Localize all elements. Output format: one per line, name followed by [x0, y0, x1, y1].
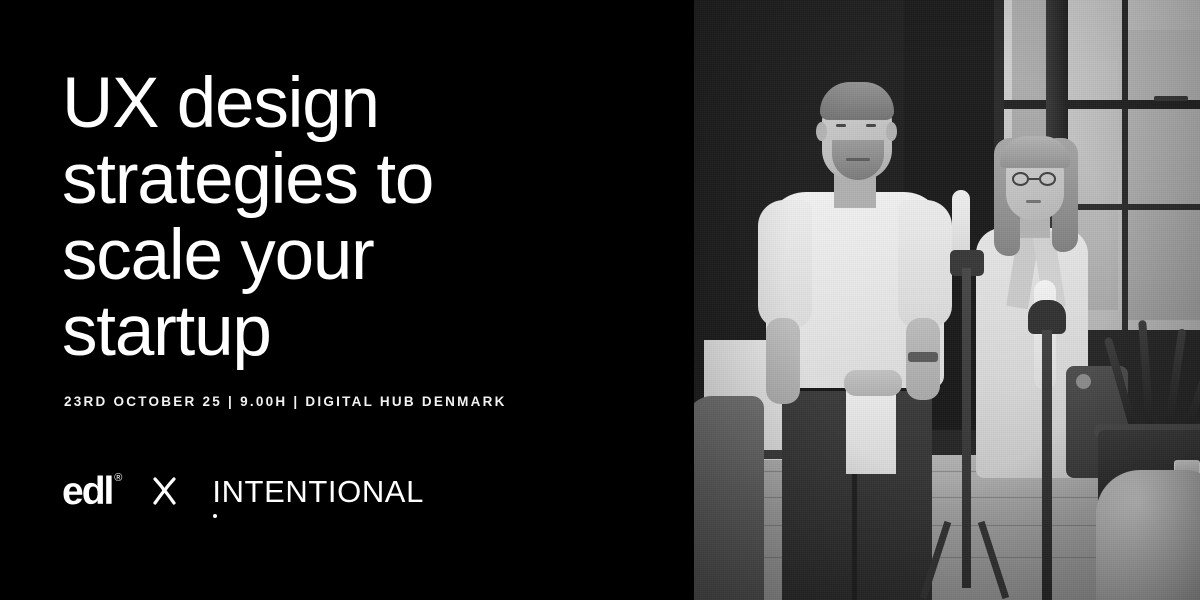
- photo-eyeglasses: [1029, 178, 1039, 180]
- event-details: 23RD OCTOBER 25 | 9.00H | DIGITAL HUB DE…: [64, 394, 507, 409]
- photo-person-man-sleeve: [758, 200, 812, 328]
- photo-person-man-hair: [820, 82, 894, 120]
- photo-person-man-ear: [816, 122, 827, 141]
- photo-eyeglasses: [1039, 172, 1056, 186]
- photo-person-man-sleeve: [898, 200, 952, 328]
- photo-building-3: [1126, 30, 1200, 320]
- headline-line-1: UX design: [62, 66, 662, 142]
- edl-logo-text: edl: [62, 470, 112, 513]
- photo-plant-leaf: [1164, 328, 1186, 432]
- photo-plant-leaf: [1182, 347, 1200, 433]
- photo-person-woman-mouth: [1026, 200, 1041, 203]
- photo-person-woman-hair: [1000, 136, 1070, 168]
- photo-person-man-hands: [844, 370, 902, 396]
- photo-window-mullion: [1122, 0, 1128, 330]
- headline-line-4: startup: [62, 294, 662, 370]
- photo-sofa: [694, 396, 764, 600]
- collab-x-icon: [152, 477, 178, 505]
- photo-tripod-leg: [962, 268, 971, 588]
- photo-eyeglasses: [1012, 172, 1029, 186]
- photo-person-man-eye: [866, 124, 876, 127]
- headline-line-3: scale your: [62, 218, 662, 294]
- photo-pouf: [1096, 470, 1200, 600]
- photo-person-man-arm: [766, 318, 800, 404]
- photo-tripod-head: [1028, 300, 1066, 334]
- intentional-logo[interactable]: INTENTIONAL: [212, 476, 424, 507]
- edl-logo[interactable]: edl ®: [62, 472, 112, 511]
- photo-phone-camera-icon: [1076, 374, 1091, 389]
- event-photo: [694, 0, 1200, 600]
- headline-line-2: strategies to: [62, 142, 662, 218]
- intentional-logo-dot-icon: [213, 514, 217, 518]
- event-banner: UX design strategies to scale your start…: [0, 0, 1200, 600]
- left-text-panel: UX design strategies to scale your start…: [0, 0, 694, 600]
- photo-notepad: [846, 390, 896, 474]
- photo-window-handle: [1154, 96, 1188, 101]
- registered-trademark-icon: ®: [114, 473, 122, 484]
- photo-window-mullion: [999, 100, 1200, 109]
- page-title: UX design strategies to scale your start…: [62, 66, 662, 370]
- photo-person-man-mouth: [846, 158, 870, 161]
- photo-person-man-eye: [836, 124, 846, 127]
- photo-wristwatch: [908, 352, 938, 362]
- partner-logo-row: edl ® INTENTIONAL: [62, 468, 424, 514]
- photo-plant-leaf: [1138, 320, 1154, 432]
- intentional-logo-text: INTENTIONAL: [212, 474, 424, 509]
- photo-person-man-ear: [886, 122, 897, 141]
- photo-tripod-leg: [1042, 330, 1052, 600]
